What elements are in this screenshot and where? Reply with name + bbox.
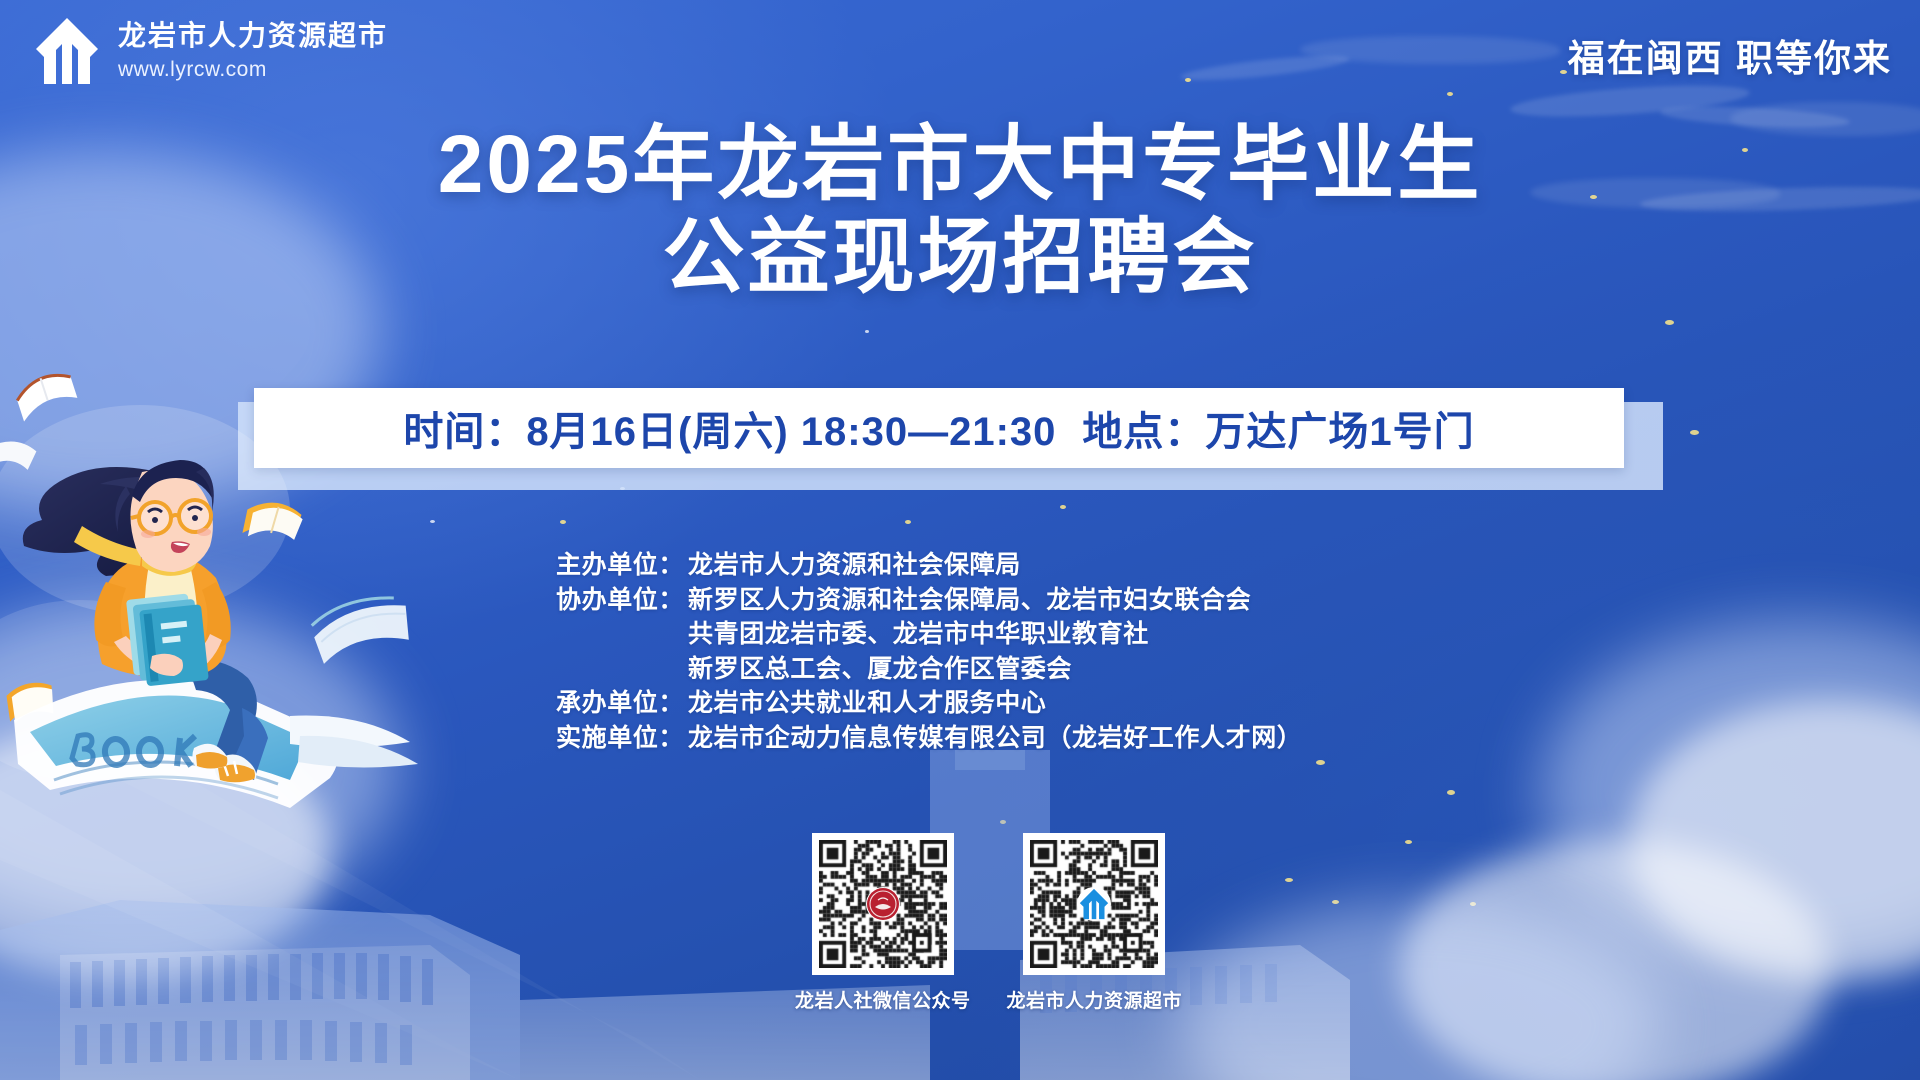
sparkle-icon (1665, 320, 1674, 325)
organizer-row: 承办单位： 龙岩市公共就业和人才服务中心 (556, 686, 1302, 721)
organizer-value: 龙岩市企动力信息传媒有限公司（龙岩好工作人才网） (688, 721, 1302, 756)
title-line-1: 2025年龙岩市大中专毕业生 (0, 118, 1920, 211)
qr-code-supermarket[interactable] (1023, 833, 1165, 975)
organizer-value: 龙岩市公共就业和人才服务中心 (688, 686, 1046, 721)
qr-caption: 龙岩市人力资源超市 (1007, 986, 1183, 1013)
sparkle-icon (905, 520, 911, 524)
red-emblem-icon (866, 887, 900, 921)
sparkle-icon (1185, 78, 1191, 82)
organizer-label: 承办单位： (556, 686, 688, 721)
organizer-label: 实施单位： (556, 721, 688, 756)
organizer-value: 龙岩市人力资源和社会保障局 (688, 548, 1021, 583)
time-value: 8月16日(周六) 18:30—21:30 (526, 410, 1056, 454)
qr-item[interactable]: 龙岩市人力资源超市 (1007, 833, 1183, 1013)
sparkle-icon (1060, 505, 1066, 509)
organizer-label: 协办单位： (556, 583, 688, 618)
sparkle-icon (1560, 70, 1567, 74)
arrow-house-logo-icon (34, 16, 100, 86)
brand-url[interactable]: www.lyrcw.com (118, 59, 388, 80)
organizer-label (556, 617, 688, 652)
sparkle-icon (1447, 92, 1453, 96)
organizer-label: 主办单位： (556, 548, 688, 583)
organizer-label (556, 652, 688, 687)
place-value: 万达广场1号门 (1205, 410, 1474, 454)
poster-canvas: 龙岩市人力资源超市 www.lyrcw.com 福在闽西 职等你来 2025年龙… (0, 0, 1920, 1080)
organizer-value: 新罗区总工会、厦龙合作区管委会 (688, 652, 1072, 687)
sparkle-icon (560, 520, 566, 524)
organizer-row: 主办单位： 龙岩市人力资源和社会保障局 (556, 548, 1302, 583)
qr-caption: 龙岩人社微信公众号 (795, 986, 971, 1013)
qr-item[interactable]: 龙岩人社微信公众号 (795, 833, 971, 1013)
brand-logo-block[interactable]: 龙岩市人力资源超市 www.lyrcw.com (34, 16, 388, 86)
sparkle-icon (865, 330, 869, 333)
organizer-row: 实施单位： 龙岩市企动力信息传媒有限公司（龙岩好工作人才网） (556, 721, 1302, 756)
brand-name: 龙岩市人力资源超市 (118, 22, 388, 50)
organizer-row: 协办单位： 新罗区人力资源和社会保障局、龙岩市妇女联合会 (556, 583, 1302, 618)
sparkle-icon (1690, 430, 1699, 435)
organizer-row: 新罗区总工会、厦龙合作区管委会 (556, 652, 1302, 687)
qr-code-area: 龙岩人社微信公众号 龙岩市人力资源超市 (795, 833, 1182, 1013)
organizer-value: 共青团龙岩市委、龙岩市中华职业教育社 (688, 617, 1149, 652)
organizer-row: 共青团龙岩市委、龙岩市中华职业教育社 (556, 617, 1302, 652)
title-line-2: 公益现场招聘会 (0, 211, 1920, 304)
slogan-text: 福在闽西 职等你来 (1568, 28, 1892, 82)
arrow-house-logo-icon (1077, 887, 1111, 921)
event-info-text: 时间：8月16日(周六) 18:30—21:30地点：万达广场1号门 (403, 399, 1474, 457)
girl-sitting-on-book-illustration (0, 360, 460, 880)
organizers-block: 主办单位： 龙岩市人力资源和社会保障局 协办单位： 新罗区人力资源和社会保障局、… (556, 548, 1302, 755)
place-label: 地点： (1082, 410, 1205, 454)
page-title: 2025年龙岩市大中专毕业生 公益现场招聘会 (0, 118, 1920, 305)
organizer-value: 新罗区人力资源和社会保障局、龙岩市妇女联合会 (688, 583, 1251, 618)
qr-code-wechat[interactable] (812, 833, 954, 975)
